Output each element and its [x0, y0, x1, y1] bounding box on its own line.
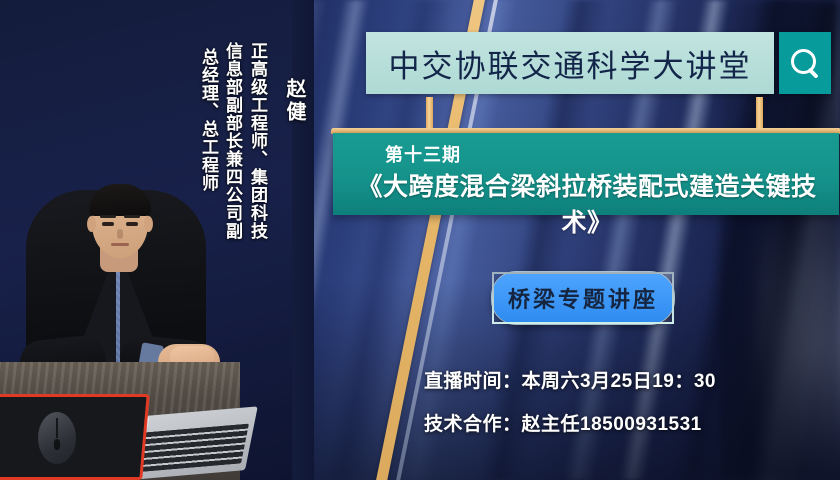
promo-poster: 赵健 正高级工程师、集团科技 信息部副部长兼四公司副 总经理、总工程师 中交协联… [0, 0, 840, 480]
speaker-brow-left [100, 215, 116, 218]
search-button[interactable] [779, 32, 831, 94]
speaker-nose [117, 229, 123, 239]
program-title-banner: 中交协联交通科学大讲堂 [366, 32, 774, 94]
program-title: 中交协联交通科学大讲堂 [389, 41, 752, 86]
topic-badge-label: 桥梁专题讲座 [508, 282, 658, 314]
mouse-button-split [56, 418, 58, 438]
speaker-credential-line-1: 正高级工程师、集团科技 [245, 42, 270, 240]
episode-number: 第十三期 [385, 141, 461, 167]
main-banner: 第十三期 《大跨度混合梁斜拉桥装配式建造关键技术》 [333, 133, 839, 215]
lecture-subject: 《大跨度混合梁斜拉桥装配式建造关键技术》 [341, 167, 833, 239]
speaker-credential-line-3: 总经理、总工程师 [196, 48, 221, 192]
speaker-ear-right [144, 216, 153, 232]
speaker-mouth [111, 243, 129, 246]
technical-contact: 技术合作：赵主任18500931531 [424, 409, 702, 436]
search-icon [790, 48, 820, 78]
speaker-credential-line-2: 信息部副部长兼四公司副 [220, 42, 245, 240]
speaker-hair [89, 184, 151, 216]
speaker-brow-right [124, 215, 140, 218]
broadcast-time: 直播时间：本周六3月25日19：30 [424, 366, 716, 393]
topic-badge[interactable]: 桥梁专题讲座 [492, 272, 674, 324]
speaker-eye-left [102, 222, 114, 226]
mouse-wheel [54, 439, 60, 450]
speaker-name: 赵健 [280, 78, 309, 124]
speaker-ear-left [87, 216, 96, 232]
speaker-eye-right [126, 222, 138, 226]
